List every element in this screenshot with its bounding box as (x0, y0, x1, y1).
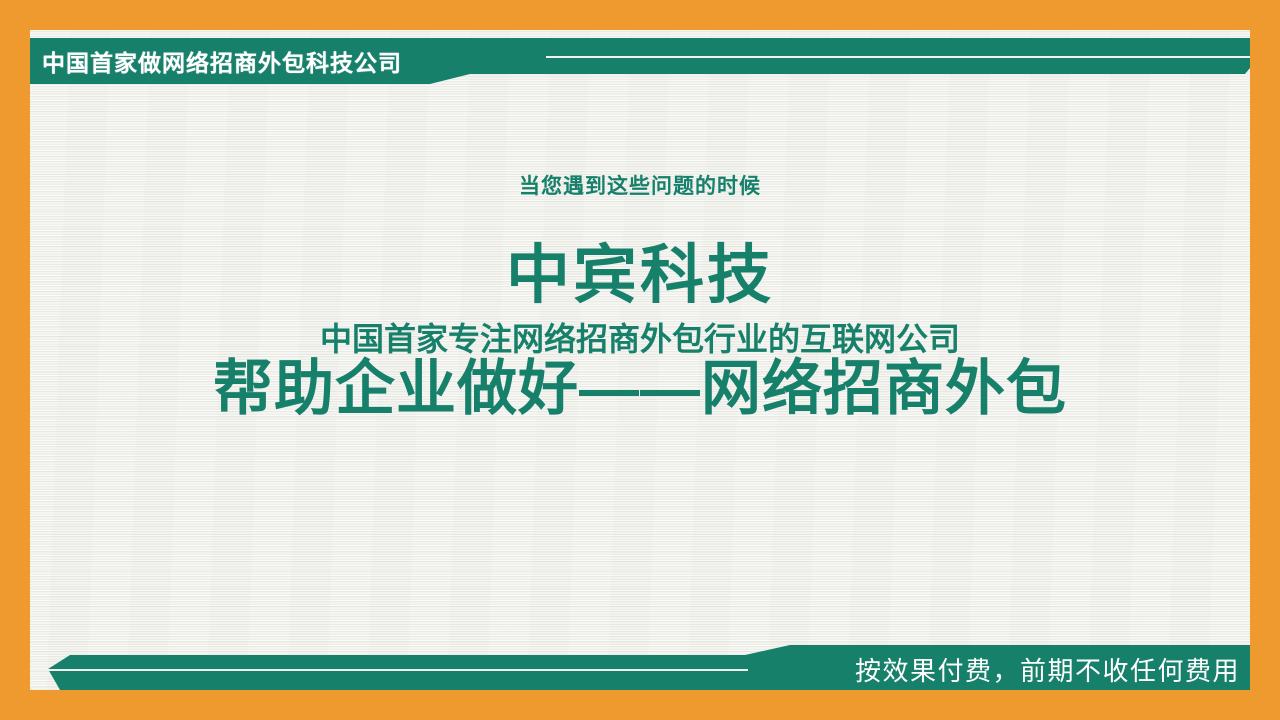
bottom-banner-label: 按效果付费，前期不收任何费用 (855, 650, 1240, 688)
tagline-text: 中国首家专注网络招商外包行业的互联网公司 (30, 314, 1250, 360)
headline-text: 帮助企业做好——网络招商外包 (30, 356, 1250, 422)
brand-title: 中宾科技 (30, 242, 1250, 309)
slide-root: 中国首家做网络招商外包科技公司 当您遇到这些问题的时候 中宾科技 中国首家专注网… (0, 0, 1280, 720)
eyebrow-text: 当您遇到这些问题的时候 (30, 170, 1250, 200)
top-banner-label: 中国首家做网络招商外包科技公司 (42, 40, 402, 82)
slide-content: 当您遇到这些问题的时候 中宾科技 中国首家专注网络招商外包行业的互联网公司 帮助… (30, 30, 1250, 690)
